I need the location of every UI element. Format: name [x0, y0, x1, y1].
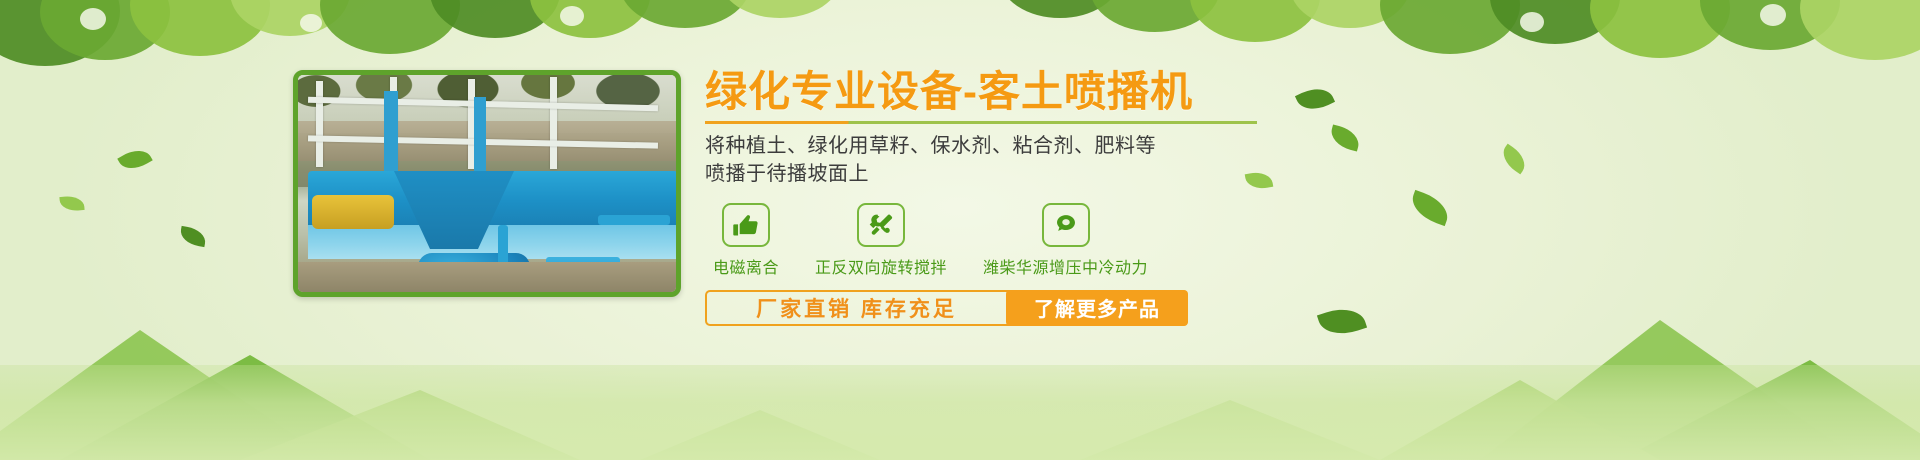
promo-banner: 绿化专业设备-客土喷播机 将种植土、绿化用草籽、保水剂、粘合剂、肥料等 喷播于待…: [0, 0, 1920, 460]
thumbs-up-icon: [731, 211, 761, 239]
feature-label: 电磁离合: [713, 254, 779, 278]
wrench-screwdriver-icon: [866, 211, 896, 239]
engine-power-icon: [1051, 211, 1081, 239]
feature-icon-box: [722, 203, 770, 247]
leaf-icon: [1317, 302, 1367, 341]
leaf-icon: [179, 226, 208, 247]
leaf-icon: [1407, 190, 1453, 226]
leaf-icon: [1295, 82, 1335, 116]
leaf-icon: [117, 144, 152, 175]
banner-subtitle: 将种植土、绿化用草籽、保水剂、粘合剂、肥料等 喷播于待播坡面上: [705, 132, 1285, 189]
cta-slogan: 厂家直销 库存充足: [707, 293, 1006, 323]
feature-label: 正反双向旋转搅拌: [815, 254, 947, 278]
feature-item-weichai-power: 潍柴华源增压中冷动力: [983, 203, 1148, 278]
banner-content: 绿化专业设备-客土喷播机 将种植土、绿化用草籽、保水剂、粘合剂、肥料等 喷播于待…: [705, 68, 1285, 326]
title-divider: [705, 121, 1257, 124]
feature-icon-box: [1042, 203, 1090, 247]
feature-item-electromagnetic-clutch: 电磁离合: [713, 203, 779, 278]
feature-icon-box: [857, 203, 905, 247]
learn-more-button[interactable]: 了解更多产品: [1006, 290, 1188, 326]
subtitle-line-2: 喷播于待播坡面上: [705, 160, 1285, 188]
subtitle-line-1: 将种植土、绿化用草籽、保水剂、粘合剂、肥料等: [705, 132, 1285, 160]
product-photo: [293, 70, 681, 297]
leaf-icon: [1328, 124, 1362, 151]
cta-bar: 厂家直销 库存充足 了解更多产品: [705, 290, 1188, 326]
leaf-icon: [59, 195, 84, 212]
product-photo-image: [298, 75, 676, 292]
leaf-icon: [1497, 144, 1530, 175]
grass-band: [0, 365, 1920, 460]
feature-item-bidirectional-mixing: 正反双向旋转搅拌: [815, 203, 947, 278]
banner-title: 绿化专业设备-客土喷播机: [705, 68, 1285, 115]
feature-label: 潍柴华源增压中冷动力: [983, 254, 1148, 278]
feature-list: 电磁离合 正反双向旋转搅拌: [705, 203, 1285, 278]
